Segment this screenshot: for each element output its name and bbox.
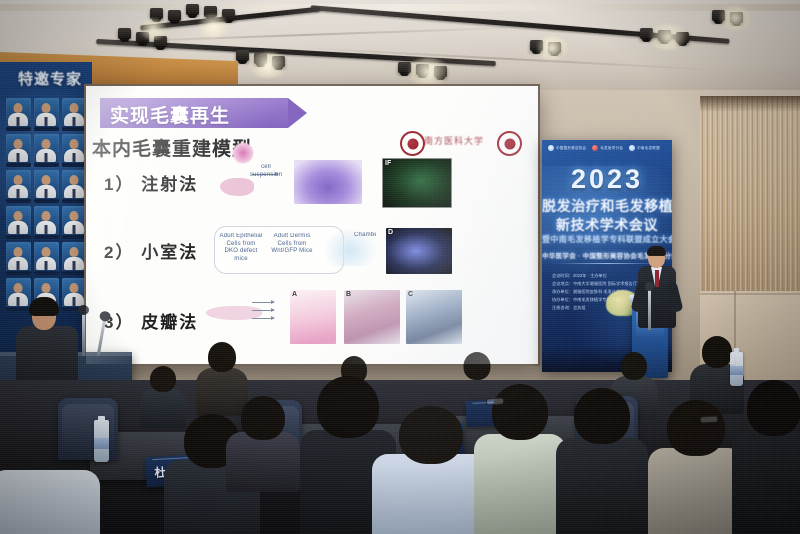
expert-portrait <box>6 170 31 203</box>
figure-immunofluorescence: IF K14 / K15 immunostaining <box>382 158 452 208</box>
expert-portrait <box>62 242 87 275</box>
expert-portrait <box>34 98 59 131</box>
wall-slat <box>760 96 763 291</box>
slide-bullet-2-label: 小室法 <box>141 243 198 262</box>
figure-flap-schematic: Flap model schematic <box>206 292 282 330</box>
expert-banner-title: 特邀专家 <box>18 68 90 89</box>
conference-photo-scene: 特邀专家 实现毛囊再生 本内毛囊重建模型 南方医科大学 1） 注射法 2） 小室… <box>0 0 800 534</box>
expert-portrait <box>6 206 31 239</box>
sponsor-mark-icon <box>548 145 554 151</box>
sponsor-mark-icon <box>592 145 598 151</box>
banner-title-line-1: 脱发治疗和毛发移植 <box>542 196 672 216</box>
expert-portrait <box>6 242 31 275</box>
podium-microphone <box>648 288 651 330</box>
figure-chamber-graphic: Chamber <box>324 228 376 266</box>
audience-person-foreground <box>732 380 800 534</box>
speaker-person <box>636 248 678 348</box>
audience-person-foreground <box>648 400 744 534</box>
expert-portrait-grid <box>4 96 92 312</box>
figure-graft-photo-b: B <box>344 290 400 344</box>
wall-slat <box>700 96 703 291</box>
slide-bullet-2: 2） 小室法 <box>104 238 198 263</box>
wall-slat <box>725 96 728 291</box>
figure-graft-photo-c: C <box>406 290 462 344</box>
wall-slat <box>775 96 778 291</box>
wall-slat <box>750 96 753 291</box>
figure-label-b: B <box>346 291 351 298</box>
figure-fluorescence-panel: D <box>386 228 452 274</box>
slide-title-banner: 实现毛囊再生 <box>100 98 288 128</box>
wall-slat <box>770 96 773 291</box>
wall-slat <box>740 96 743 291</box>
sponsor-logo-2: 毛发医学分会 <box>592 145 623 151</box>
expert-portrait <box>6 134 31 167</box>
expert-portrait <box>34 134 59 167</box>
diagram-label-epithelial: Adult Epithelial Cells from DKO defect m… <box>219 233 263 263</box>
sponsor-mark-icon <box>629 145 635 151</box>
banner-sponsor-logos: 中国整形美容协会 毛发医学分会 中南毛发联盟 <box>548 143 666 153</box>
figure-label-c: C <box>408 291 413 298</box>
figure-label: IF <box>385 160 391 167</box>
expert-portrait <box>6 98 31 131</box>
audience-person-foreground <box>556 388 648 534</box>
wall-slat <box>710 96 713 291</box>
spotlight-fixture <box>118 28 131 39</box>
wall-slat <box>780 96 783 291</box>
slide-bullet-2-index: 2） <box>104 243 134 262</box>
expert-portrait <box>62 98 87 131</box>
audience-person-foreground <box>372 406 490 534</box>
expert-portrait <box>34 170 59 203</box>
slide-bullet-1-index: 1） <box>104 175 134 194</box>
head-table-microphone <box>82 312 85 356</box>
slide-title: 实现毛囊再生 <box>110 101 230 128</box>
institution-logos: 南方医科大学 <box>400 130 522 154</box>
figure-he-stain-a: A <box>290 290 336 344</box>
eyeglasses <box>700 416 718 424</box>
institution-name-text: 南方医科大学 <box>424 134 484 147</box>
expert-portrait <box>34 242 59 275</box>
sponsor-logo-3: 中南毛发联盟 <box>629 145 660 151</box>
audience-person-foreground <box>474 384 566 534</box>
audience-person-foreground <box>226 396 300 486</box>
wall-slat <box>720 96 723 291</box>
slide-bullet-1: 1） 注射法 <box>104 170 198 195</box>
slide-bullet-3-label: 皮瓣法 <box>141 313 198 332</box>
hospital-seal-icon <box>497 131 522 156</box>
wood-slat-wall-panel <box>700 96 800 291</box>
wall-slat <box>790 96 793 291</box>
spotlight-fixture <box>186 4 199 15</box>
figure-label-d: D <box>388 229 393 236</box>
wall-slat <box>795 96 798 291</box>
sponsor-logo-1: 中国整形美容协会 <box>548 145 586 151</box>
expert-portrait <box>62 206 87 239</box>
figure-aggregate-sketch <box>232 142 254 164</box>
wall-slat <box>705 96 708 291</box>
projection-screen: 实现毛囊再生 本内毛囊重建模型 南方医科大学 1） 注射法 2） 小室法 3） … <box>86 86 538 364</box>
expert-portrait <box>62 170 87 203</box>
moderator-person <box>16 300 78 390</box>
slide-bullet-3: 3） 皮瓣法 <box>104 308 198 333</box>
figure-follicle-induction: Hair follicle induction <box>294 160 362 204</box>
banner-subtitle: 暨中南毛发移植学专科联盟成立大会 <box>542 234 672 245</box>
wall-slat <box>785 96 788 291</box>
wall-slat <box>755 96 758 291</box>
audience-person-foreground <box>0 430 100 534</box>
figure-label-a: A <box>292 291 297 298</box>
slide-subtitle: 本内毛囊重建模型 <box>92 134 252 161</box>
slide-bullet-1-label: 注射法 <box>141 175 198 194</box>
spotlight-fixture <box>168 10 181 21</box>
wall-slat <box>735 96 738 291</box>
eyeglasses <box>486 397 504 405</box>
wall-slat <box>765 96 768 291</box>
wall-slat <box>745 96 748 291</box>
expert-portrait <box>34 206 59 239</box>
diagram-label-chamber: Chamber <box>354 232 376 240</box>
expert-portrait <box>62 134 87 167</box>
university-seal-icon <box>400 131 425 156</box>
banner-title-line-2: 新技术学术会议 <box>542 215 672 235</box>
wall-slat <box>730 96 733 291</box>
wall-slat <box>715 96 718 291</box>
diagram-label-dermis: Adult Dermis Cells from Wnt/GFP Mice <box>271 233 313 256</box>
banner-year: 2023 <box>542 164 672 195</box>
figure-cell-aggregate-diagram: cell suspension Cell aggregate grafting <box>218 162 282 202</box>
